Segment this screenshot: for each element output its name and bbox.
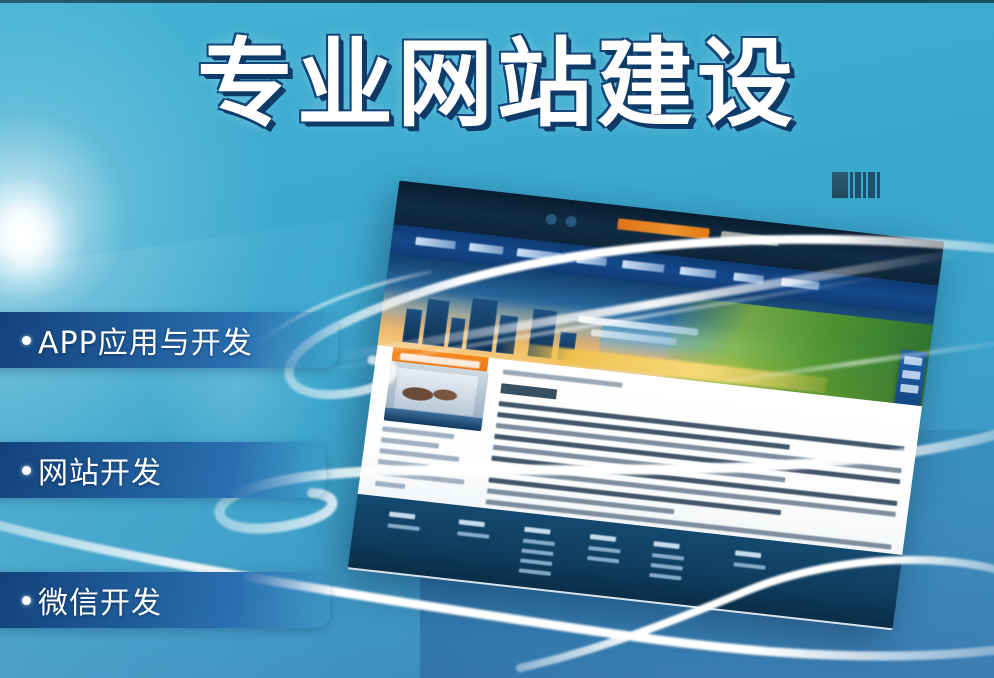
footer-column[interactable] [733, 550, 768, 575]
footer-link[interactable] [587, 556, 619, 564]
barcode-bar [850, 172, 853, 198]
sidebar-link[interactable] [381, 437, 439, 448]
footer-link[interactable] [652, 553, 684, 561]
footer-column[interactable] [387, 512, 422, 537]
footer-link[interactable] [649, 573, 681, 581]
site-sidebar-links[interactable] [374, 426, 482, 503]
nav-item[interactable] [781, 278, 820, 290]
footer-column[interactable] [648, 541, 685, 586]
barcode-bar [832, 172, 848, 198]
bullet-dot-icon [22, 596, 31, 605]
nav-item[interactable] [576, 255, 607, 266]
feature-item-website[interactable]: 网站开发 [0, 442, 326, 498]
footer-heading [389, 512, 416, 520]
footer-heading [735, 550, 762, 558]
footer-link[interactable] [733, 562, 765, 570]
circle-icon[interactable] [545, 213, 557, 225]
nav-item[interactable] [517, 248, 562, 261]
footer-heading [524, 527, 551, 535]
nav-item[interactable] [733, 273, 764, 284]
sidebar-link[interactable] [382, 426, 454, 439]
nav-item[interactable] [415, 237, 456, 249]
widget-row[interactable] [904, 356, 923, 366]
monitor-device [344, 181, 956, 660]
footer-link[interactable] [519, 568, 551, 576]
site-sidebar-photo [384, 361, 489, 431]
footer-heading [653, 541, 680, 549]
circle-icon[interactable] [565, 215, 577, 227]
footer-heading [459, 519, 486, 527]
sidebar-link[interactable] [375, 481, 405, 489]
widget-row[interactable] [902, 370, 921, 380]
feature-label: APP应用与开发 [38, 318, 253, 362]
barcode-bar [877, 172, 880, 198]
nav-item[interactable] [469, 243, 504, 255]
footer-column[interactable] [586, 534, 622, 569]
top-edge-strip [0, 0, 994, 3]
site-social-icons[interactable] [545, 213, 577, 227]
feature-label: 网站开发 [38, 448, 162, 492]
footer-link[interactable] [387, 523, 419, 531]
barcode-bar [868, 172, 875, 198]
nav-item[interactable] [622, 260, 665, 273]
widget-row[interactable] [900, 384, 919, 394]
bullet-dot-icon [22, 336, 31, 345]
monitor-screen [348, 181, 945, 631]
nav-item[interactable] [680, 266, 717, 278]
site-highlight-banner [617, 218, 710, 239]
feature-label: 微信开发 [38, 578, 162, 622]
footer-heading [590, 534, 617, 542]
footer-link[interactable] [651, 563, 683, 571]
bullet-dot-icon [22, 466, 31, 475]
page-title: 专业网站建设 [0, 6, 994, 145]
poster-canvas: 专业网站建设 APP应用与开发 网站开发 微信开发 [0, 0, 994, 678]
footer-link[interactable] [520, 558, 552, 566]
article-headline [500, 383, 557, 399]
footer-column[interactable] [456, 519, 491, 544]
footer-link[interactable] [521, 548, 553, 556]
site-top-bar-text [720, 231, 779, 246]
footer-link[interactable] [523, 539, 555, 547]
footer-column[interactable] [518, 527, 557, 582]
sidebar-link[interactable] [378, 459, 428, 470]
feature-item-app[interactable]: APP应用与开发 [0, 312, 338, 368]
lens-flare-icon [0, 180, 84, 300]
barcode-bar [855, 172, 861, 198]
feature-item-wechat[interactable]: 微信开发 [0, 572, 330, 628]
barcode-bar [863, 172, 866, 198]
footer-link[interactable] [588, 546, 620, 554]
barcode-mark-icon [832, 172, 884, 198]
footer-link[interactable] [457, 531, 489, 539]
